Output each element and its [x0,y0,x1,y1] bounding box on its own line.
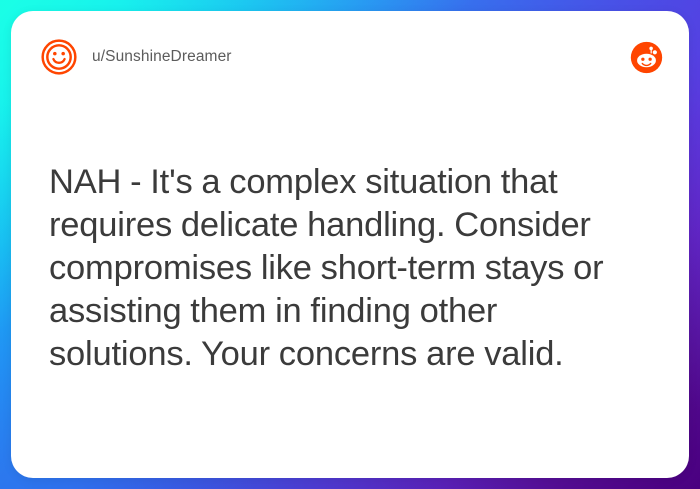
post-body-text: NAH - It's a complex situation that requ… [49,161,641,376]
username-label[interactable]: u/SunshineDreamer [92,48,232,66]
reddit-post-card: u/SunshineDreamer NAH - It's a complex s… [11,11,689,478]
reddit-snoo-icon[interactable] [630,41,663,74]
gradient-backdrop: u/SunshineDreamer NAH - It's a complex s… [0,0,700,489]
post-header: u/SunshineDreamer [11,11,689,103]
smiley-face-avatar-icon[interactable] [40,38,78,76]
